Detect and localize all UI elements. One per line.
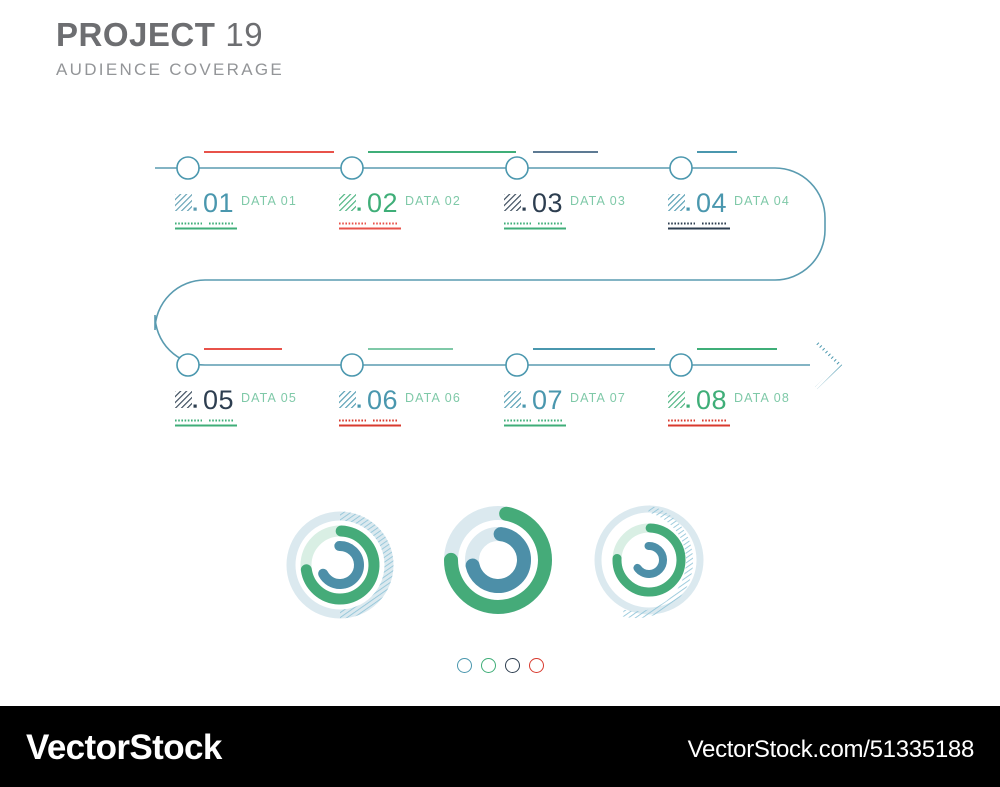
hatch-square-icon [668,390,690,411]
timeline-step-08[interactable]: 08DATA 08 [668,387,790,433]
hatch-square-icon [175,390,197,411]
watermark-footer: VectorStock VectorStock.com/51335188 [0,706,1000,787]
timeline-step-05[interactable]: 05DATA 05 [175,387,297,433]
dot-3[interactable] [505,658,520,673]
timeline-step-06[interactable]: 06DATA 06 [339,387,461,433]
step-underline [175,222,237,231]
hatch-square-icon [504,193,526,214]
step-label: DATA 04 [734,194,790,208]
timeline-node-02[interactable] [341,157,363,179]
step-number: 02 [367,190,398,217]
donut1-inner-blue-arc [320,545,359,584]
donut-charts-group [0,480,1000,655]
donut-chart-3 [583,488,723,643]
donut-chart-2 [432,488,572,643]
timeline-arrow-icon [816,342,840,388]
hatch-square-icon [504,390,526,411]
timeline-node-08[interactable] [670,354,692,376]
step-number: 03 [532,190,563,217]
step-underline [175,419,237,428]
timeline-diagram [0,120,1000,450]
step-label: DATA 08 [734,391,790,405]
step-label: DATA 05 [241,391,297,405]
title-number: 19 [225,16,263,53]
page-subtitle: AUDIENCE COVERAGE [56,60,284,80]
step-number: 04 [696,190,727,217]
dot-2[interactable] [481,658,496,673]
hatch-square-icon [175,193,197,214]
step-underline [668,419,730,428]
header: PROJECT19 AUDIENCE COVERAGE [56,16,284,80]
dot-4[interactable] [529,658,544,673]
dot-1[interactable] [457,658,472,673]
hatch-square-icon [668,193,690,214]
timeline-node-01[interactable] [177,157,199,179]
donut3-inner-blue-arc [635,546,664,575]
timeline-step-01[interactable]: 01DATA 01 [175,190,297,236]
hatch-square-icon [339,390,361,411]
vectorstock-logo: VectorStock [26,728,222,768]
vectorstock-url: VectorStock.com/51335188 [688,736,974,764]
timeline-node-07[interactable] [506,354,528,376]
step-label: DATA 06 [405,391,461,405]
timeline-node-06[interactable] [341,354,363,376]
step-number: 05 [203,387,234,414]
timeline-node-03[interactable] [506,157,528,179]
step-underline [668,222,730,231]
step-number: 06 [367,387,398,414]
timeline-step-03[interactable]: 03DATA 03 [504,190,626,236]
title-bold: PROJECT [56,16,215,53]
step-underline [339,222,401,231]
step-label: DATA 02 [405,194,461,208]
timeline-step-07[interactable]: 07DATA 07 [504,387,626,433]
timeline-step-02[interactable]: 02DATA 02 [339,190,461,236]
step-label: DATA 03 [570,194,626,208]
step-number: 01 [203,190,234,217]
step-number: 08 [696,387,727,414]
step-underline [504,419,566,428]
step-underline [339,419,401,428]
step-label: DATA 07 [570,391,626,405]
timeline-node-04[interactable] [670,157,692,179]
hatch-square-icon [339,193,361,214]
timeline-node-05[interactable] [177,354,199,376]
step-label: DATA 01 [241,194,297,208]
timeline-step-04[interactable]: 04DATA 04 [668,190,790,236]
donut-chart-1 [268,482,418,647]
step-number: 07 [532,387,563,414]
step-underline [504,222,566,231]
page-title: PROJECT19 [56,16,284,54]
pagination-dots[interactable] [0,658,1000,673]
